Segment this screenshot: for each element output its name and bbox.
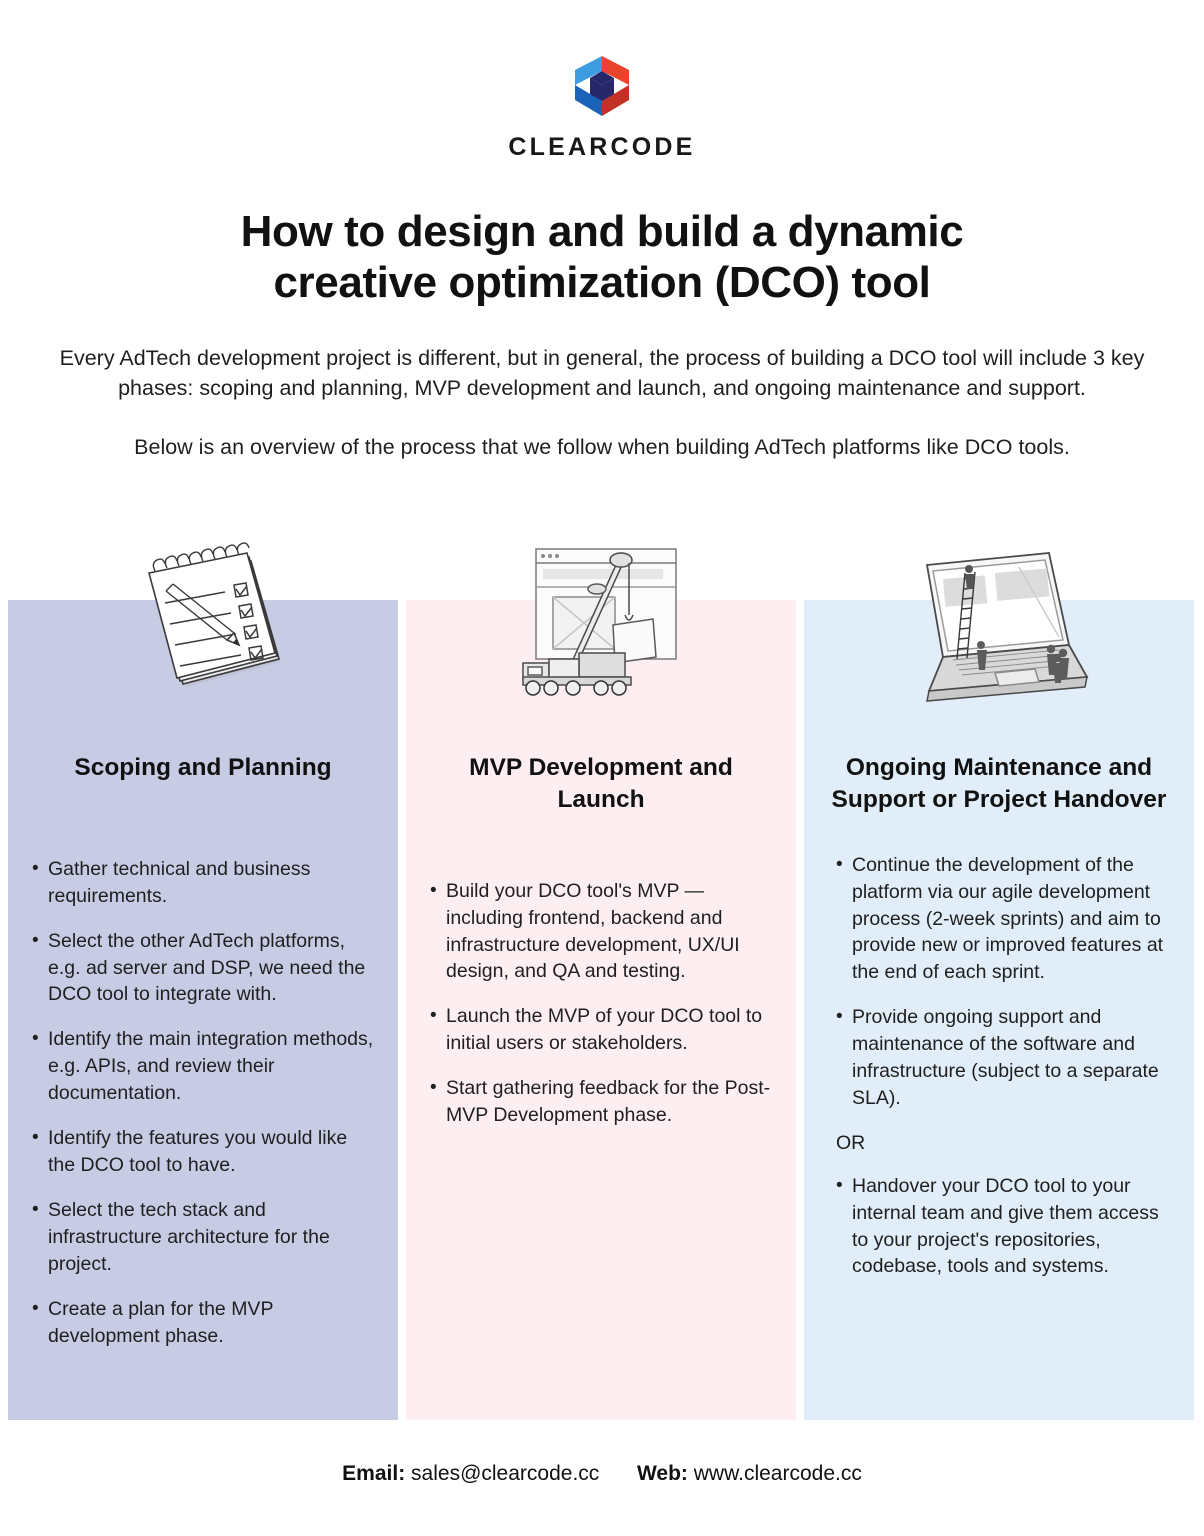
list-item: •Create a plan for the MVP development p… [32, 1296, 374, 1350]
phase-column-ongoing-maintenance-and-support: Ongoing Maintenance and Support or Proje… [804, 600, 1194, 1420]
phase-column-scoping-and-planning: Scoping and Planning •Gather technical a… [8, 600, 398, 1420]
notepad-checklist-pencil-icon [8, 522, 398, 712]
bullet-list-scoping-and-planning: •Gather technical and business requireme… [32, 856, 374, 1350]
list-item: •Gather technical and business requireme… [32, 856, 374, 910]
list-item-text: Identify the features you would like the… [48, 1125, 374, 1179]
list-item-text: Create a plan for the MVP development ph… [48, 1296, 374, 1350]
intro-paragraph-2: Below is an overview of the process that… [42, 432, 1162, 463]
column-heading-mvp-development-and-launch: MVP Development and Launch [430, 752, 772, 816]
list-item-text: Build your DCO tool's MVP — including fr… [446, 878, 772, 986]
list-item: •Build your DCO tool's MVP — including f… [430, 878, 772, 986]
list-item: •Select the other AdTech platforms, e.g.… [32, 928, 374, 1009]
bullet-list-ongoing-maintenance-and-support: •Continue the development of the platfor… [828, 852, 1170, 1281]
list-item-text: Provide ongoing support and maintenance … [852, 1004, 1170, 1112]
list-item: •Identify the features you would like th… [32, 1125, 374, 1179]
brand-name: CLEARCODE [0, 133, 1204, 162]
list-item: •Provide ongoing support and maintenance… [836, 1004, 1170, 1112]
list-item-text: Select the other AdTech platforms, e.g. … [48, 928, 374, 1009]
bullet-glyph: • [430, 878, 446, 986]
phase-columns: Scoping and Planning •Gather technical a… [8, 600, 1196, 1420]
bullet-list-mvp-development-and-launch: •Build your DCO tool's MVP — including f… [430, 878, 772, 1129]
bullet-glyph: • [32, 1197, 48, 1278]
bullet-glyph: • [32, 928, 48, 1009]
brand-header: CLEARCODE [0, 0, 1204, 162]
bullet-glyph: • [836, 1004, 852, 1112]
phase-column-mvp-development-and-launch: MVP Development and Launch •Build your D… [406, 600, 796, 1420]
bullet-glyph: • [836, 852, 852, 987]
list-item-text: Launch the MVP of your DCO tool to initi… [446, 1003, 772, 1057]
bullet-glyph: • [32, 1296, 48, 1350]
footer-web-label: Web: [637, 1462, 688, 1485]
crane-truck-building-website-icon [406, 522, 796, 712]
footer-web-value[interactable]: www.clearcode.cc [694, 1462, 862, 1485]
bullet-glyph: • [430, 1003, 446, 1057]
bullet-glyph: • [32, 856, 48, 910]
list-item: •Start gathering feedback for the Post-M… [430, 1075, 772, 1129]
list-item-text: Gather technical and business requiremen… [48, 856, 374, 910]
footer-email-value[interactable]: sales@clearcode.cc [411, 1462, 599, 1485]
bullet-glyph: • [430, 1075, 446, 1129]
list-item: •Continue the development of the platfor… [836, 852, 1170, 987]
list-item-text: Identify the main integration methods, e… [48, 1026, 374, 1107]
footer-email-label: Email: [342, 1462, 405, 1485]
list-item-text: Select the tech stack and infrastructure… [48, 1197, 374, 1278]
column-heading-ongoing-maintenance-and-support: Ongoing Maintenance and Support or Proje… [828, 752, 1170, 816]
page-title: How to design and build a dynamic creati… [162, 206, 1042, 309]
footer-contact: Email: sales@clearcode.cc Web: www.clear… [0, 1462, 1204, 1486]
bullet-glyph: • [836, 1173, 852, 1281]
or-separator-label: OR [836, 1130, 1170, 1157]
laptop-with-ladder-and-people-icon [804, 522, 1194, 712]
bullet-glyph: • [32, 1026, 48, 1107]
intro-paragraph-1: Every AdTech development project is diff… [42, 343, 1162, 404]
clearcode-hexagon-logo-icon [573, 55, 631, 117]
list-item: •Handover your DCO tool to your internal… [836, 1173, 1170, 1281]
list-item: •Launch the MVP of your DCO tool to init… [430, 1003, 772, 1057]
list-item: •Identify the main integration methods, … [32, 1026, 374, 1107]
bullet-glyph: • [32, 1125, 48, 1179]
list-item-text: Handover your DCO tool to your internal … [852, 1173, 1170, 1281]
list-item-text: Continue the development of the platform… [852, 852, 1170, 987]
column-heading-scoping-and-planning: Scoping and Planning [32, 752, 374, 784]
list-item: •Select the tech stack and infrastructur… [32, 1197, 374, 1278]
list-item-text: Start gathering feedback for the Post-MV… [446, 1075, 772, 1129]
